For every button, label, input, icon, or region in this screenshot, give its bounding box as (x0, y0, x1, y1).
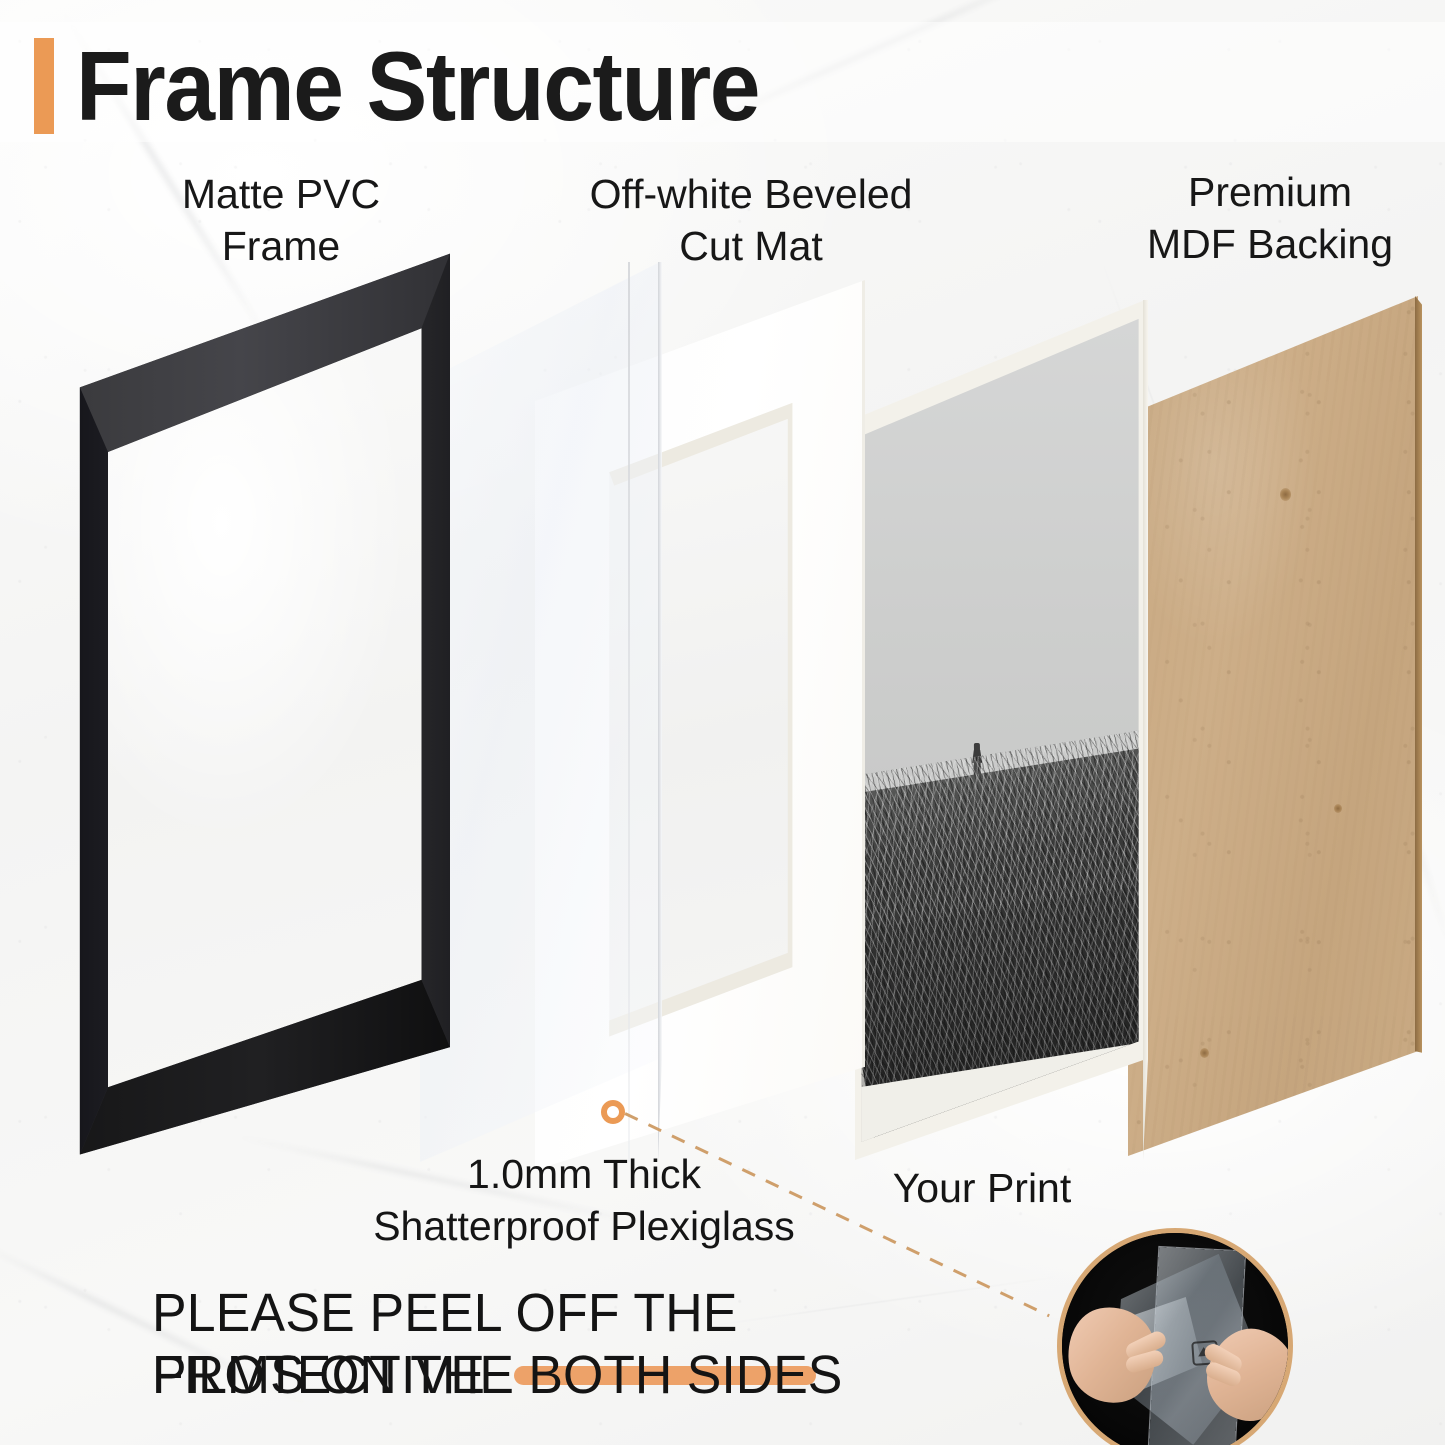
label-your-print: Your Print (872, 1162, 1092, 1214)
print-photo-layer (855, 300, 1145, 1160)
plexiglass-sheet (420, 262, 660, 1162)
title-accent-bar (34, 38, 54, 134)
plexiglass-edge (658, 262, 662, 1162)
warning-line-2: FILMS ON THE BOTH SIDES (152, 1344, 997, 1406)
pvc-frame-layer (70, 250, 450, 1160)
print-photo-lighthouse (855, 300, 1145, 1160)
label-mdf-backing: Premium MDF Backing (1104, 166, 1436, 270)
plexiglass-seam (628, 262, 630, 1162)
label-cut-mat: Off-white Beveled Cut Mat (548, 168, 954, 272)
mdf-grain-texture (1128, 296, 1418, 1156)
page-title: Frame Structure (76, 34, 759, 138)
product-infographic: Frame Structure Matte PVC Frame Off-whit… (0, 0, 1445, 1445)
connector-dot-marker (601, 1100, 625, 1124)
plexiglass-layer (420, 262, 660, 1162)
print-edge (1143, 300, 1148, 1160)
peel-film-inset-photo (1057, 1228, 1293, 1445)
mdf-knot (1280, 488, 1291, 501)
mdf-backing-layer (1128, 296, 1418, 1156)
label-plexiglass: 1.0mm Thick Shatterproof Plexiglass (282, 1148, 886, 1252)
mdf-knot (1334, 804, 1342, 813)
mdf-knot (1200, 1048, 1209, 1058)
mdf-edge (1415, 296, 1422, 1156)
